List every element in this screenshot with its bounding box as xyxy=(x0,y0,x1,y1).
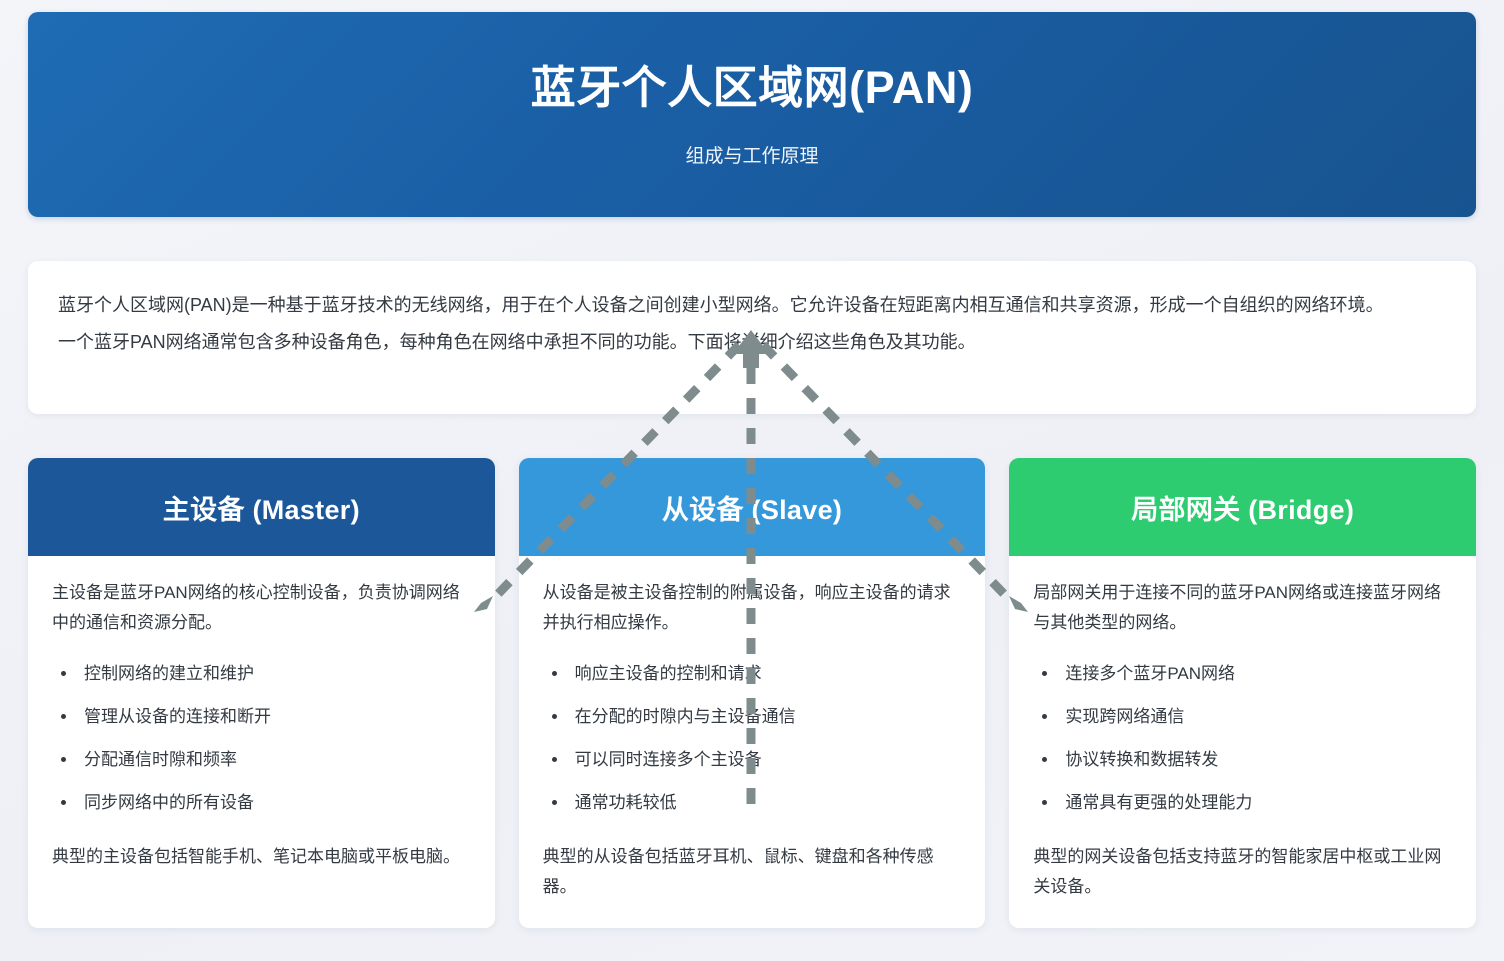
role-card-master-header: 主设备 (Master) xyxy=(28,458,495,556)
page-banner: 蓝牙个人区域网(PAN) 组成与工作原理 xyxy=(28,12,1476,217)
page-root: 蓝牙个人区域网(PAN) 组成与工作原理 蓝牙个人区域网(PAN)是一种基于蓝牙… xyxy=(0,0,1504,961)
intro-card: 蓝牙个人区域网(PAN)是一种基于蓝牙技术的无线网络，用于在个人设备之间创建小型… xyxy=(28,261,1476,414)
list-item: 通常具有更强的处理能力 xyxy=(1059,789,1452,816)
page-subtitle: 组成与工作原理 xyxy=(685,141,818,168)
role-card-master: 主设备 (Master) 主设备是蓝牙PAN网络的核心控制设备，负责协调网络中的… xyxy=(28,458,495,928)
intro-paragraph-1: 蓝牙个人区域网(PAN)是一种基于蓝牙技术的无线网络，用于在个人设备之间创建小型… xyxy=(58,289,1446,322)
list-item: 在分配的时隙内与主设备通信 xyxy=(569,703,962,730)
role-card-slave-bullets: 响应主设备的控制和请求 在分配的时隙内与主设备通信 可以同时连接多个主设备 通常… xyxy=(543,660,962,817)
role-card-bridge-header: 局部网关 (Bridge) xyxy=(1009,458,1476,556)
role-card-master-footnote: 典型的主设备包括智能手机、笔记本电脑或平板电脑。 xyxy=(52,842,471,872)
list-item: 分配通信时隙和频率 xyxy=(78,746,471,773)
intro-paragraph-2: 一个蓝牙PAN网络通常包含多种设备角色，每种角色在网络中承担不同的功能。下面将详… xyxy=(58,326,1446,359)
role-card-master-body: 主设备是蓝牙PAN网络的核心控制设备，负责协调网络中的通信和资源分配。 控制网络… xyxy=(28,556,495,928)
list-item: 协议转换和数据转发 xyxy=(1059,746,1452,773)
role-card-master-description: 主设备是蓝牙PAN网络的核心控制设备，负责协调网络中的通信和资源分配。 xyxy=(52,578,471,638)
page-title: 蓝牙个人区域网(PAN) xyxy=(531,61,974,115)
role-card-bridge-bullets: 连接多个蓝牙PAN网络 实现跨网络通信 协议转换和数据转发 通常具有更强的处理能… xyxy=(1033,660,1452,817)
role-card-bridge: 局部网关 (Bridge) 局部网关用于连接不同的蓝牙PAN网络或连接蓝牙网络与… xyxy=(1009,458,1476,928)
list-item: 可以同时连接多个主设备 xyxy=(569,746,962,773)
list-item: 实现跨网络通信 xyxy=(1059,703,1452,730)
list-item: 通常功耗较低 xyxy=(569,789,962,816)
role-card-bridge-footnote: 典型的网关设备包括支持蓝牙的智能家居中枢或工业网关设备。 xyxy=(1033,842,1452,902)
role-card-bridge-description: 局部网关用于连接不同的蓝牙PAN网络或连接蓝牙网络与其他类型的网络。 xyxy=(1033,578,1452,638)
role-card-master-title: 主设备 (Master) xyxy=(163,488,360,527)
role-card-master-bullets: 控制网络的建立和维护 管理从设备的连接和断开 分配通信时隙和频率 同步网络中的所… xyxy=(52,660,471,817)
list-item: 响应主设备的控制和请求 xyxy=(569,660,962,687)
list-item: 控制网络的建立和维护 xyxy=(78,660,471,687)
role-card-slave-body: 从设备是被主设备控制的附属设备，响应主设备的请求并执行相应操作。 响应主设备的控… xyxy=(519,556,986,928)
role-card-slave-title: 从设备 (Slave) xyxy=(662,488,842,527)
list-item: 管理从设备的连接和断开 xyxy=(78,703,471,730)
role-card-slave-description: 从设备是被主设备控制的附属设备，响应主设备的请求并执行相应操作。 xyxy=(543,578,962,638)
list-item: 连接多个蓝牙PAN网络 xyxy=(1059,660,1452,687)
role-card-slave-header: 从设备 (Slave) xyxy=(519,458,986,556)
role-card-bridge-title: 局部网关 (Bridge) xyxy=(1131,488,1354,527)
role-card-slave-footnote: 典型的从设备包括蓝牙耳机、鼠标、键盘和各种传感器。 xyxy=(543,842,962,902)
list-item: 同步网络中的所有设备 xyxy=(78,789,471,816)
role-cards-row: 主设备 (Master) 主设备是蓝牙PAN网络的核心控制设备，负责协调网络中的… xyxy=(28,458,1476,928)
role-card-bridge-body: 局部网关用于连接不同的蓝牙PAN网络或连接蓝牙网络与其他类型的网络。 连接多个蓝… xyxy=(1009,556,1476,928)
role-card-slave: 从设备 (Slave) 从设备是被主设备控制的附属设备，响应主设备的请求并执行相… xyxy=(519,458,986,928)
